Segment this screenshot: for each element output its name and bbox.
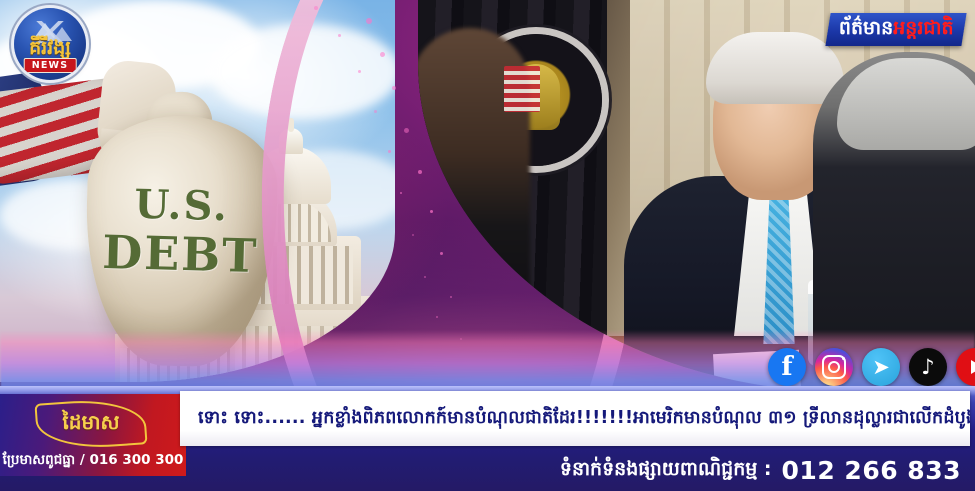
tiktok-icon[interactable]: ♪: [909, 348, 947, 386]
sponsor-tagline: ប្រែមាសពូជធ្នា / 016 300 300: [0, 451, 186, 471]
sponsor-logo-text: ដៃមាស: [36, 409, 146, 439]
contact-label: ទំនាក់ទំនងផ្សាយពាណិជ្ជកម្ម :: [560, 457, 772, 485]
sponsor-panel[interactable]: ដៃមាស ប្រែមាសពូជធ្នា / 016 300 300: [0, 394, 186, 476]
contact-row: ទំនាក់ទំនងផ្សាយពាណិជ្ជកម្ម : 012 266 833: [190, 450, 975, 491]
news-ticker-bar: ទោះ ទោះ...... អ្នកខ្លាំងពិភពលោកក៍មានបំណុ…: [180, 391, 970, 446]
channel-logo[interactable]: គីរីវង្ស NEWS: [14, 8, 86, 80]
bag-label-line2: DEBT: [85, 228, 276, 280]
bag-label-line1: U.S.: [86, 184, 277, 230]
facebook-icon[interactable]: f: [768, 348, 806, 386]
news-thumbnail-stage: U.S. DEBT គីរីវង្ស NEWS: [0, 0, 975, 491]
youtube-icon[interactable]: [956, 348, 975, 386]
category-badge-inner: ព័ត៌មានអន្តរជាតិ: [839, 16, 954, 44]
sponsor-leaf-logo: ដៃមាស: [36, 400, 146, 448]
social-icons-row: f ➤ ♪: [768, 348, 968, 388]
youtube-glyph: [962, 358, 975, 376]
category-badge-prefix: ព័ត៌មាន: [839, 17, 893, 39]
us-flag-icon: [504, 66, 540, 112]
instagram-icon[interactable]: [815, 348, 853, 386]
telegram-icon[interactable]: ➤: [862, 348, 900, 386]
logo-news-badge: NEWS: [24, 58, 77, 73]
category-badge-highlight: អន្តរជាតិ: [893, 17, 953, 39]
ticker-headline: ទោះ ទោះ...... អ្នកខ្លាំងពិភពលោកក៍មានបំណុ…: [180, 406, 970, 432]
money-bag-label: U.S. DEBT: [85, 184, 277, 281]
instagram-glyph: [822, 355, 846, 379]
contact-phone[interactable]: 012 266 833: [782, 456, 961, 485]
category-badge-international[interactable]: ព័ត៌មានអន្តរជាតិ: [825, 13, 966, 46]
